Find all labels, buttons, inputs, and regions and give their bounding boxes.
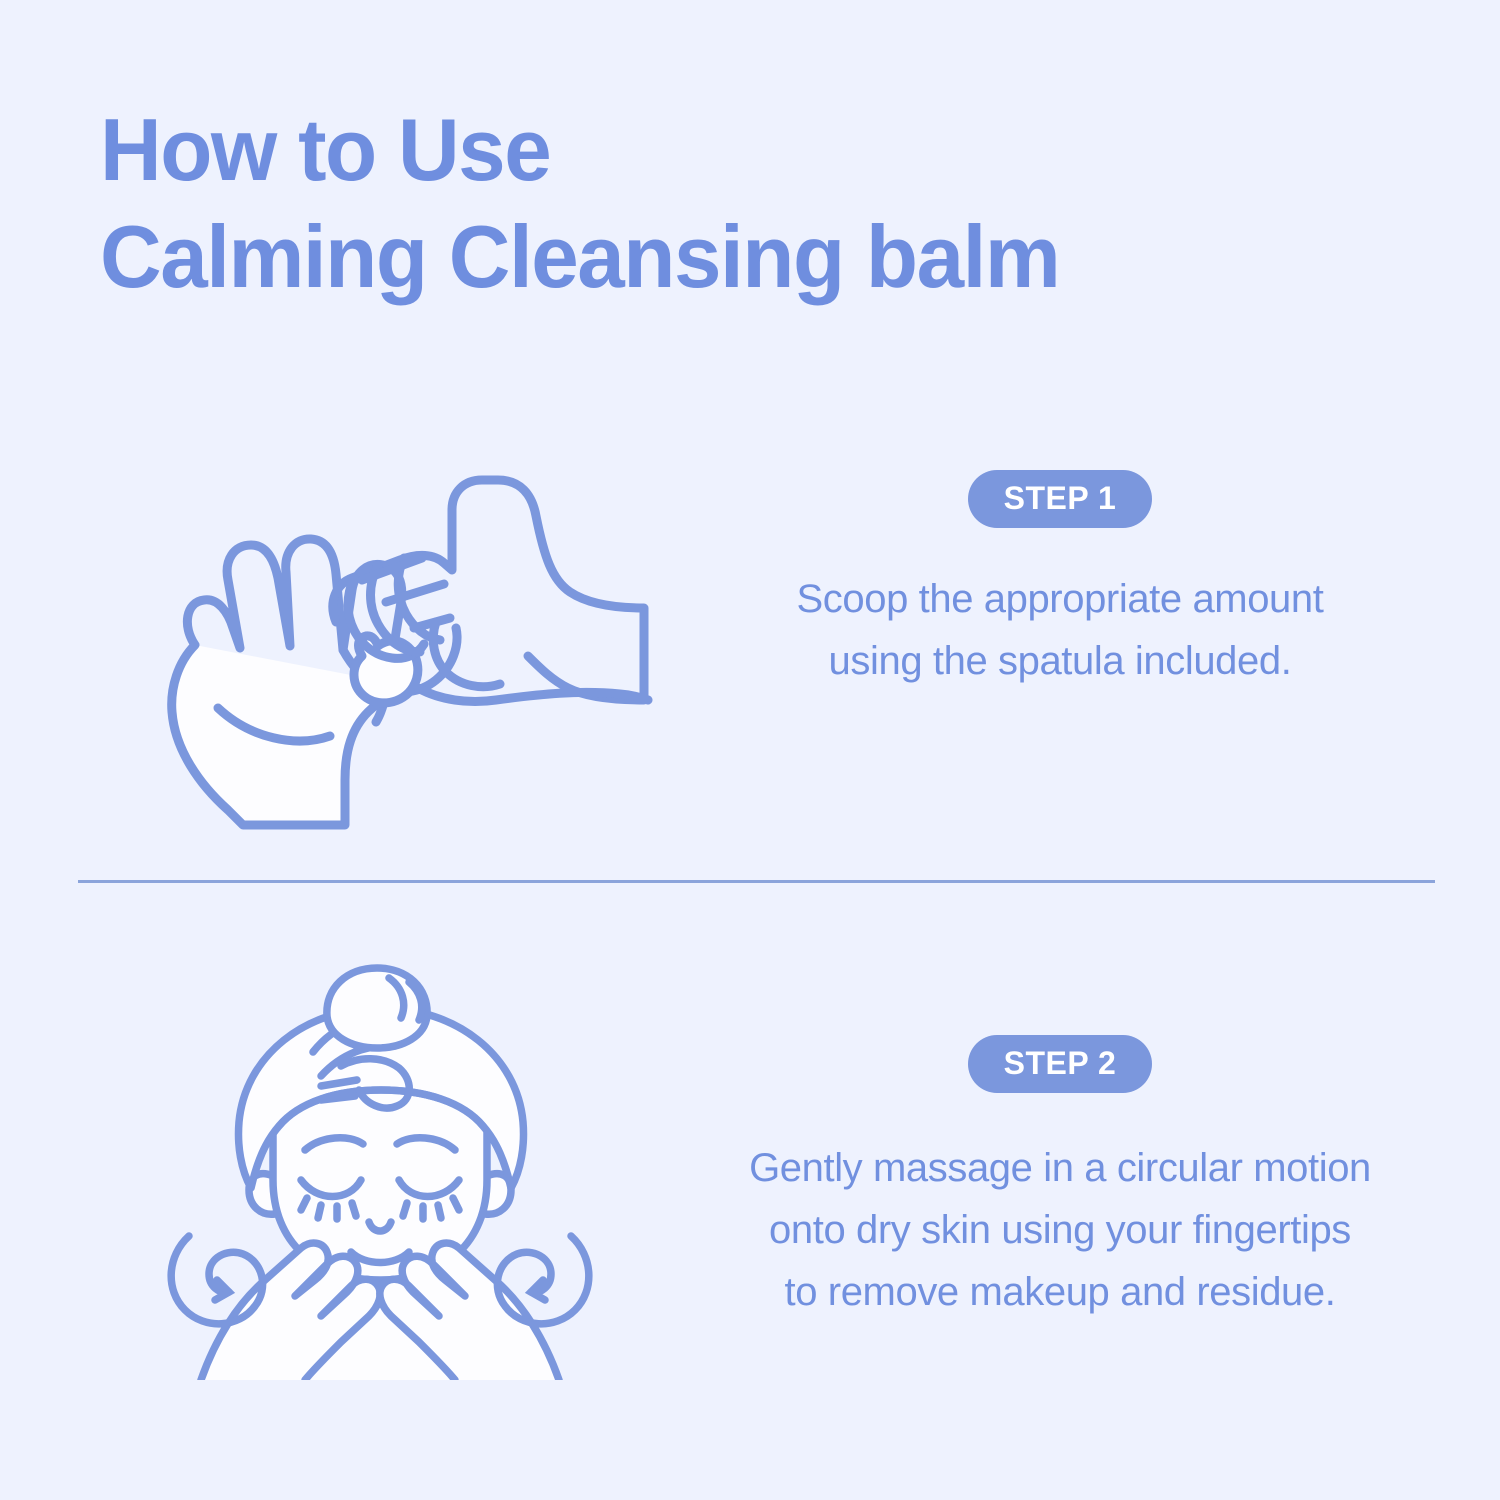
- hand-scooping-balm-icon: [100, 450, 660, 830]
- step-1-text: STEP 1 Scoop the appropriate amount usin…: [690, 430, 1430, 890]
- step-2-illustration: [75, 960, 685, 1380]
- step-2-text: STEP 2 Gently massage in a circular moti…: [690, 960, 1430, 1455]
- step-2-badge: STEP 2: [968, 1035, 1153, 1093]
- step-2-description-line-2: onto dry skin using your fingertips: [749, 1199, 1371, 1261]
- page-title: How to Use Calming Cleansing balm: [100, 96, 1300, 311]
- page-title-line-2: Calming Cleansing balm: [100, 203, 1264, 310]
- step-1-badge: STEP 1: [968, 470, 1153, 528]
- step-2-description-line-1: Gently massage in a circular motion: [749, 1137, 1371, 1199]
- step-1-row: STEP 1 Scoop the appropriate amount usin…: [0, 430, 1500, 850]
- page-title-line-1: How to Use: [100, 96, 1264, 203]
- section-divider: [78, 880, 1435, 883]
- step-1-description-line-2: using the spatula included.: [797, 630, 1324, 692]
- step-1-illustration: [75, 430, 685, 850]
- step-2-description: Gently massage in a circular motion onto…: [749, 1137, 1371, 1323]
- face-massage-icon: [145, 960, 615, 1380]
- how-to-use-infographic: How to Use Calming Cleansing balm: [0, 0, 1500, 1500]
- step-2-row: STEP 2 Gently massage in a circular moti…: [0, 960, 1500, 1380]
- step-2-description-line-3: to remove makeup and residue.: [749, 1261, 1371, 1323]
- step-1-description-line-1: Scoop the appropriate amount: [797, 568, 1324, 630]
- step-1-description: Scoop the appropriate amount using the s…: [797, 568, 1324, 692]
